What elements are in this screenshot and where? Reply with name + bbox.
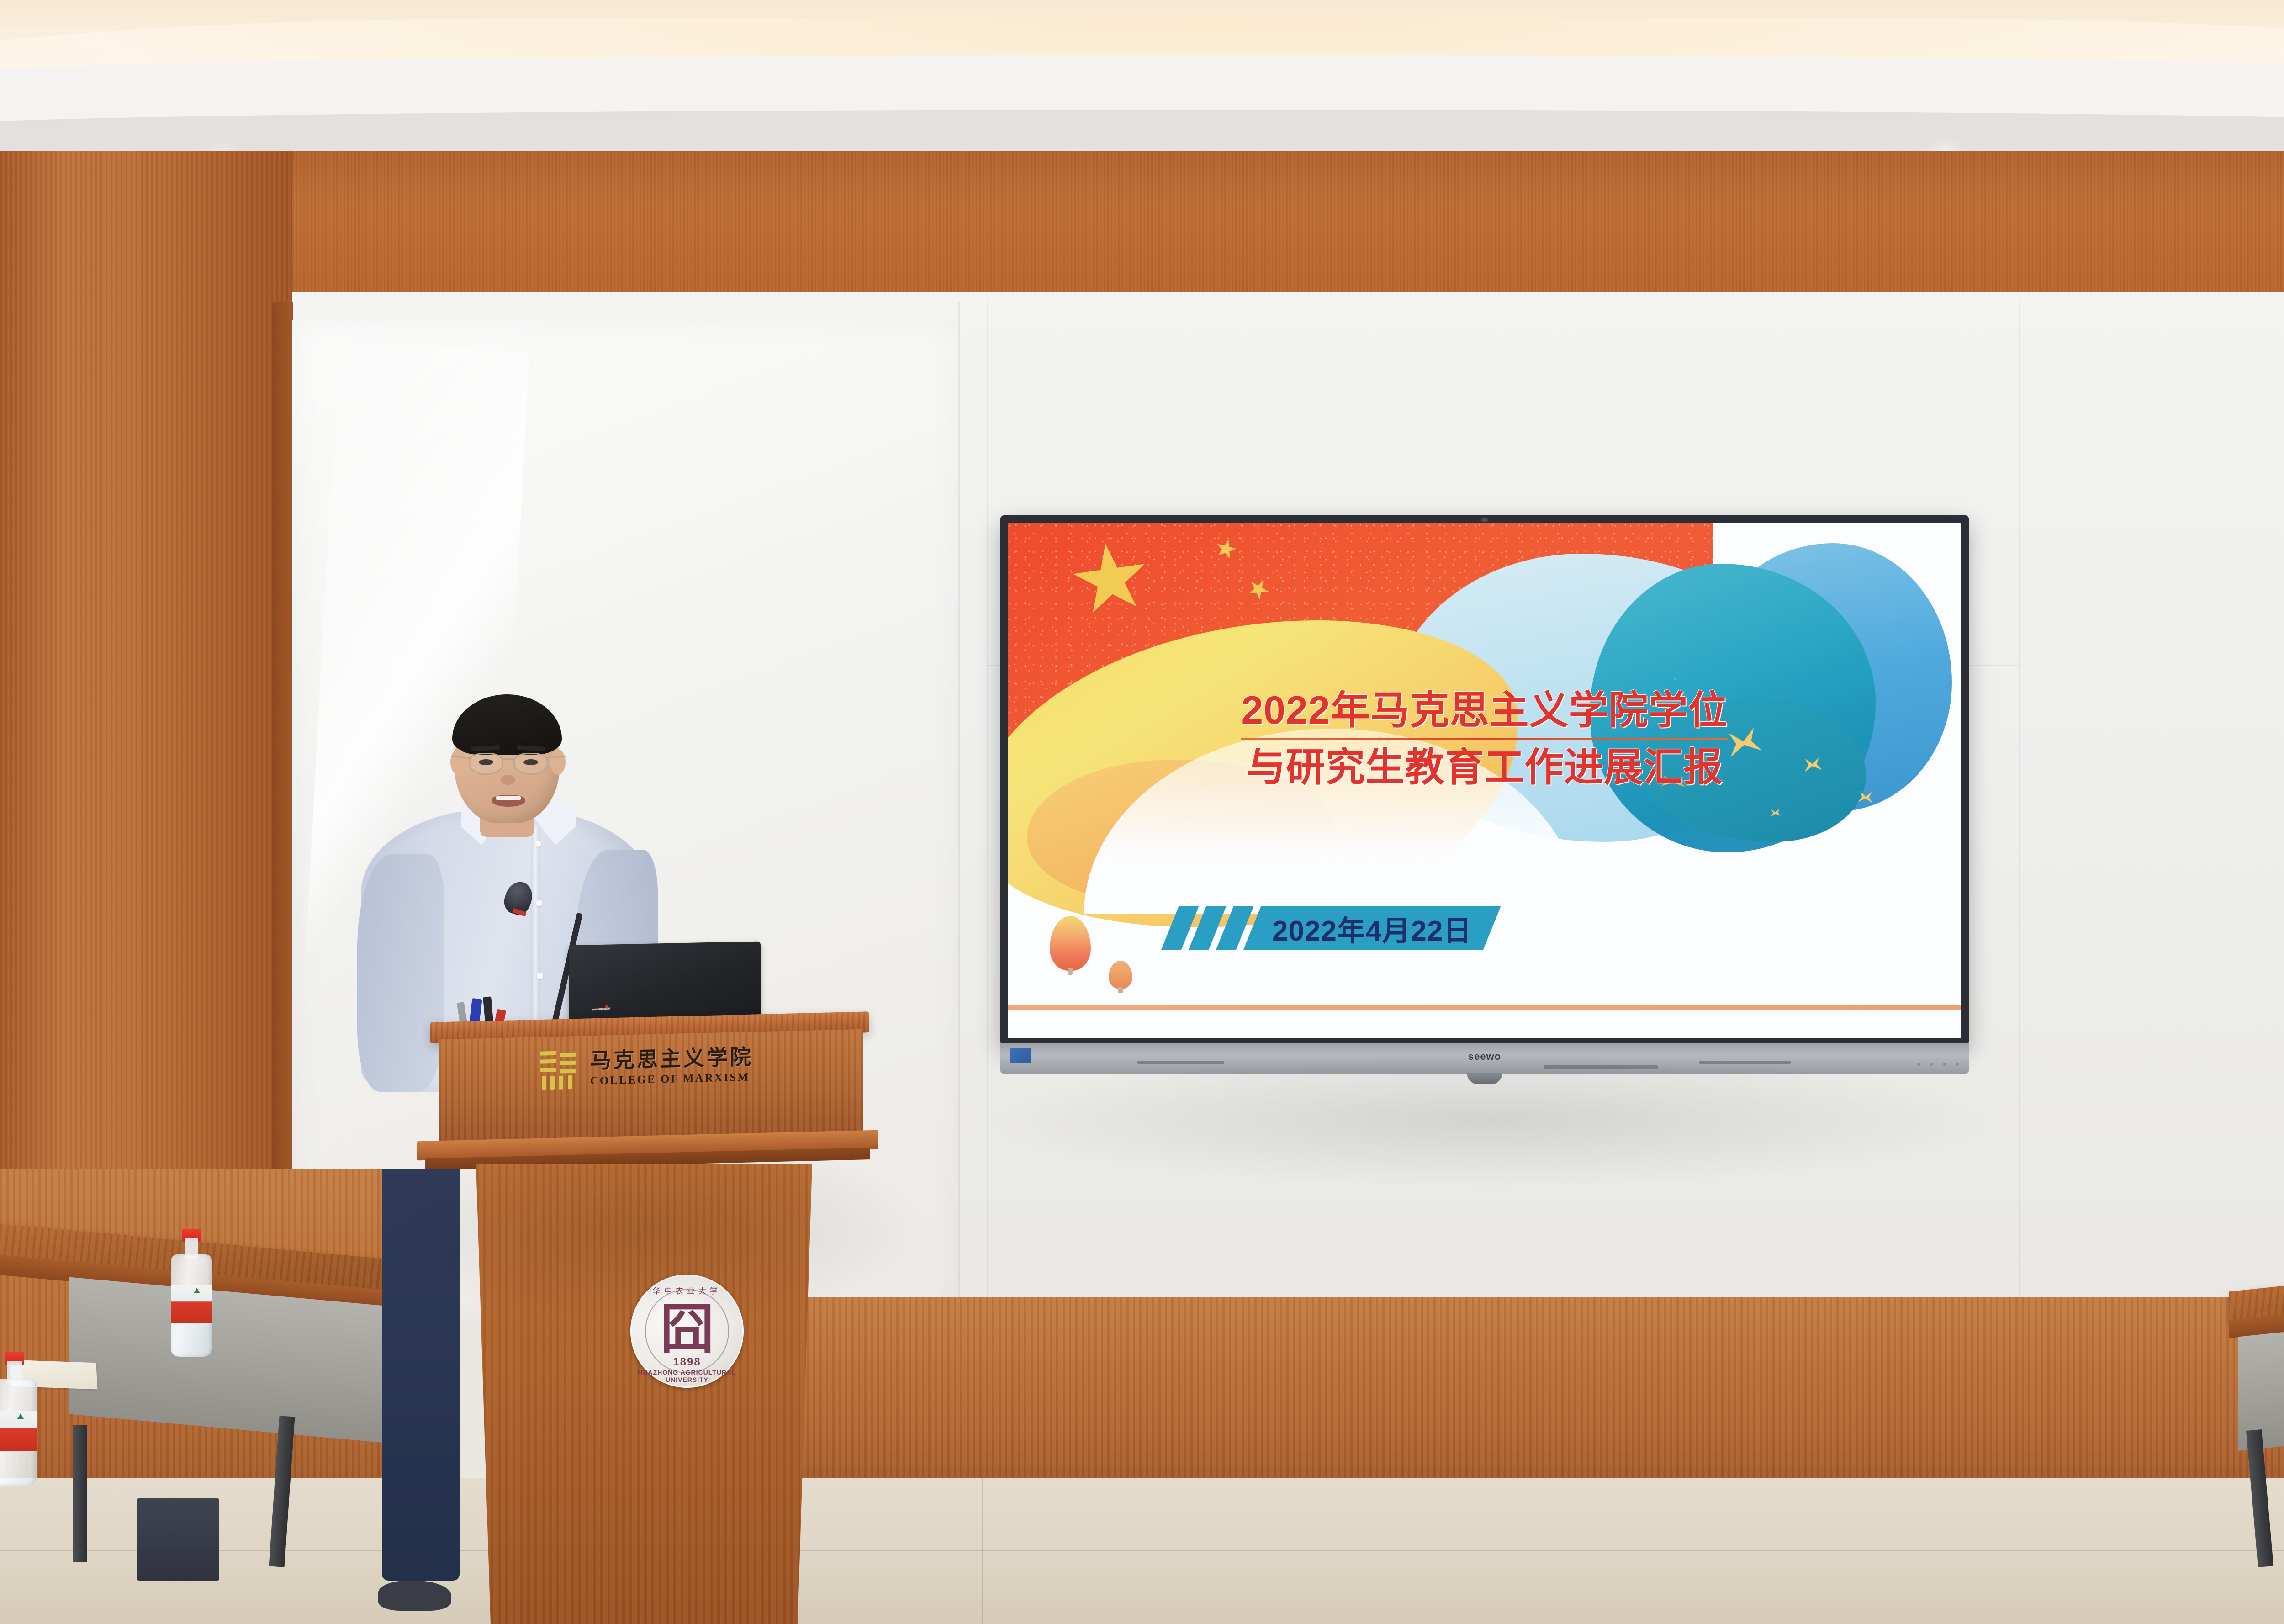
wall-wood-panel-left	[0, 151, 292, 1320]
eyeglasses-bridge	[502, 758, 514, 760]
speaker-ear-right	[550, 749, 566, 775]
presentation-slide: 2022年马克思主义学院学位 与研究生教育工作进展汇报 2022年4月22日	[1008, 523, 1961, 1038]
podium-plaque-chinese: 马克思主义学院	[590, 1046, 753, 1072]
floor-tile-line	[0, 1550, 2284, 1551]
wall-panel-seam	[987, 302, 988, 1320]
speaker-teeth	[496, 796, 521, 800]
slide-title-block: 2022年马克思主义学院学位 与研究生教育工作进展汇报	[1208, 688, 1761, 791]
bird-icon	[1771, 808, 1781, 817]
speaker-nose	[501, 775, 515, 785]
seal-founding-year: 1898	[673, 1356, 701, 1369]
bottle-logo-icon	[17, 1413, 24, 1419]
display-os-badge-icon	[1010, 1048, 1031, 1063]
seal-chinese-name: 华中农业大学	[630, 1285, 744, 1296]
interactive-display[interactable]: 2022年马克思主义学院学位 与研究生教育工作进展汇报 2022年4月22日	[1000, 515, 1969, 1045]
hot-air-balloon-icon	[1050, 916, 1091, 971]
display-panel[interactable]: 2022年马克思主义学院学位 与研究生教育工作进展汇报 2022年4月22日	[1008, 523, 1961, 1038]
slide-title-line-1: 2022年马克思主义学院学位	[1208, 688, 1761, 734]
display-brand-label: seewo	[1468, 1051, 1501, 1063]
speaker-arm-left	[357, 854, 444, 1092]
display-chin-bar: seewo	[1000, 1043, 1969, 1074]
wall-panel-seam	[2019, 302, 2020, 1320]
hot-air-balloon-small-icon	[1109, 961, 1132, 989]
water-bottle	[0, 1352, 37, 1486]
display-status-led	[1930, 1063, 1933, 1066]
shirt-button	[535, 841, 541, 847]
conference-room-scene: 2022年马克思主义学院学位 与研究生教育工作进展汇报 2022年4月22日	[0, 0, 2284, 1624]
slide-date-text: 2022年4月22日	[1272, 908, 1472, 949]
podium-plaque-english: COLLEGE OF MARXISM	[590, 1071, 753, 1087]
display-status-led	[1943, 1063, 1946, 1066]
podium-plaque-text: 马克思主义学院 COLLEGE OF MARXISM	[590, 1046, 753, 1087]
college-emblem-icon	[539, 1048, 578, 1091]
bird-icon	[1803, 756, 1822, 772]
speaker-ear-left	[450, 749, 466, 775]
bottle-label	[171, 1285, 212, 1323]
chair	[137, 1498, 219, 1581]
speaker-hair	[452, 694, 562, 755]
podium-plaque: 马克思主义学院 COLLEGE OF MARXISM	[539, 1043, 753, 1090]
display-port	[1544, 1065, 1658, 1069]
slide-title-line-2: 与研究生教育工作进展汇报	[1208, 745, 1761, 791]
display-port	[1699, 1061, 1791, 1064]
seal-english-name: HUAZHONG AGRICULTURAL UNIVERSITY	[630, 1369, 744, 1383]
slide-date-banner: 2022年4月22日	[1170, 906, 1492, 950]
floor-tile-line	[982, 1478, 983, 1624]
wall-wainscot-band	[749, 1297, 2284, 1494]
floor-surface	[0, 1478, 2284, 1624]
presenter-laptop[interactable]: ▬▬▬	[569, 942, 761, 1023]
eyeglasses-lens-left	[469, 753, 503, 775]
shirt-button	[537, 973, 543, 979]
display-camera-icon	[1481, 518, 1488, 522]
podium-column	[461, 1164, 827, 1624]
banner-date-plate: 2022年4月22日	[1243, 906, 1501, 950]
wall-panel-seam	[958, 302, 960, 1320]
slide-bottom-accent-line	[1008, 1005, 1961, 1010]
wall-wood-header	[0, 151, 2284, 302]
eyeglasses-lens-right	[513, 753, 548, 775]
bottle-logo-icon	[194, 1288, 200, 1293]
wall-wood-panel-left-inner-jamb	[272, 302, 293, 1320]
conference-table-left-leg	[73, 1425, 87, 1562]
display-status-led	[1956, 1063, 1959, 1066]
seal-emblem-glyph-icon: 囧	[660, 1303, 714, 1357]
slide-title-divider	[1241, 738, 1728, 740]
shirt-button	[536, 900, 542, 906]
speaker-trousers	[382, 1169, 460, 1581]
university-seal: 华中农业大学 囧 1898 HUAZHONG AGRICULTURAL UNIV…	[630, 1275, 744, 1388]
bird-icon	[1858, 790, 1874, 803]
water-bottle	[171, 1229, 212, 1357]
display-port	[1137, 1061, 1224, 1064]
display-status-led	[1917, 1063, 1920, 1066]
speaker-shoe	[378, 1581, 451, 1611]
